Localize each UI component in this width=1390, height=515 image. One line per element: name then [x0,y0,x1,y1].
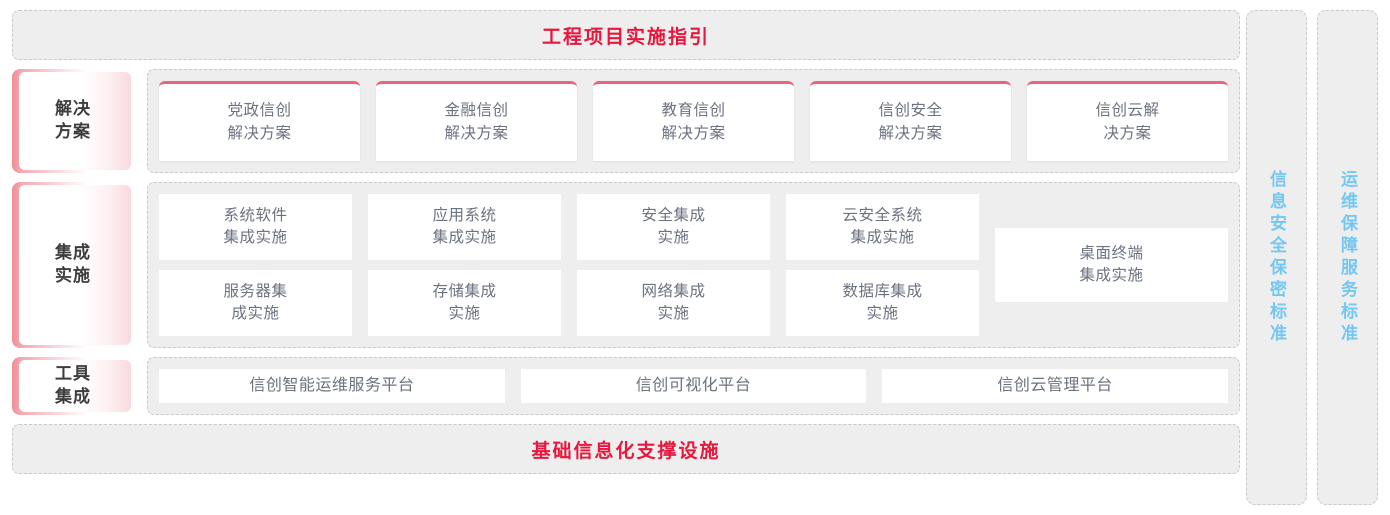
solutions-grid: 党政信创解决方案 金融信创解决方案 教育信创解决方案 信创安全解决方案 信创云解… [159,81,1228,161]
standard-column-security-text: 信息安全保密标准 [1268,170,1285,346]
main-column: 工程项目实施指引 解决 方案 党政信创解决方案 金融信创解决方案 [0,0,1240,515]
tools-grid: 信创智能运维服务平台 信创可视化平台 信创云管理平台 [159,369,1228,403]
row-tools: 工具 集成 信创智能运维服务平台 信创可视化平台 信创云管理平台 [12,357,1240,415]
diagram-root: 工程项目实施指引 解决 方案 党政信创解决方案 金融信创解决方案 [0,0,1390,515]
tools-container: 信创智能运维服务平台 信创可视化平台 信创云管理平台 [147,357,1240,415]
card-integration-security[interactable]: 安全集成实施 [577,194,770,260]
card-solution-cloud[interactable]: 信创云解决方案 [1027,81,1228,161]
row-label-solutions-text: 解决 方案 [55,98,91,144]
row-label-tools: 工具 集成 [12,357,134,415]
row-label-integration: 集成 实施 [12,182,134,348]
row-label-solutions: 解决 方案 [12,69,134,173]
card-integration-server[interactable]: 服务器集成实施 [159,270,352,336]
header-banner: 工程项目实施指引 [12,10,1240,60]
card-solution-finance[interactable]: 金融信创解决方案 [376,81,577,161]
row-integration: 集成 实施 系统软件集成实施 应用系统集成实施 [12,182,1240,348]
card-integration-system-software[interactable]: 系统软件集成实施 [159,194,352,260]
integration-grid: 系统软件集成实施 应用系统集成实施 安全集成实施 云安全系统集成实施 [159,194,979,336]
card-integration-application-system[interactable]: 应用系统集成实施 [368,194,561,260]
card-platform-cloud-management[interactable]: 信创云管理平台 [882,369,1228,403]
page-title: 工程项目实施指引 [542,22,710,49]
integration-container: 系统软件集成实施 应用系统集成实施 安全集成实施 云安全系统集成实施 [147,182,1240,348]
card-integration-storage[interactable]: 存储集成实施 [368,270,561,336]
card-solution-security[interactable]: 信创安全解决方案 [810,81,1011,161]
card-integration-cloud-security[interactable]: 云安全系统集成实施 [786,194,979,260]
standard-column-operations: 运维保障服务标准 [1317,10,1378,505]
integration-subrow-2: 服务器集成实施 存储集成实施 网络集成实施 数据库集成实施 [159,270,979,336]
card-integration-desktop-terminal[interactable]: 桌面终端集成实施 [995,228,1228,302]
card-solution-government[interactable]: 党政信创解决方案 [159,81,360,161]
standard-column-operations-text: 运维保障服务标准 [1339,170,1356,346]
row-solutions: 解决 方案 党政信创解决方案 金融信创解决方案 教育信创解决方案 [12,69,1240,173]
footer-title: 基础信息化支撑设施 [531,436,720,463]
solutions-container: 党政信创解决方案 金融信创解决方案 教育信创解决方案 信创安全解决方案 信创云解… [147,69,1240,173]
integration-subrow-1: 系统软件集成实施 应用系统集成实施 安全集成实施 云安全系统集成实施 [159,194,979,260]
card-solution-education[interactable]: 教育信创解决方案 [593,81,794,161]
row-label-tools-text: 工具 集成 [55,363,91,409]
standards-columns: 信息安全保密标准 运维保障服务标准 [1240,0,1390,515]
row-label-integration-text: 集成 实施 [55,242,91,288]
integration-wrap: 系统软件集成实施 应用系统集成实施 安全集成实施 云安全系统集成实施 [159,194,1228,336]
card-integration-database[interactable]: 数据库集成实施 [786,270,979,336]
standard-column-security: 信息安全保密标准 [1246,10,1307,505]
footer-banner: 基础信息化支撑设施 [12,424,1240,474]
card-platform-aiops[interactable]: 信创智能运维服务平台 [159,369,505,403]
card-integration-network[interactable]: 网络集成实施 [577,270,770,336]
card-platform-visualization[interactable]: 信创可视化平台 [521,369,867,403]
